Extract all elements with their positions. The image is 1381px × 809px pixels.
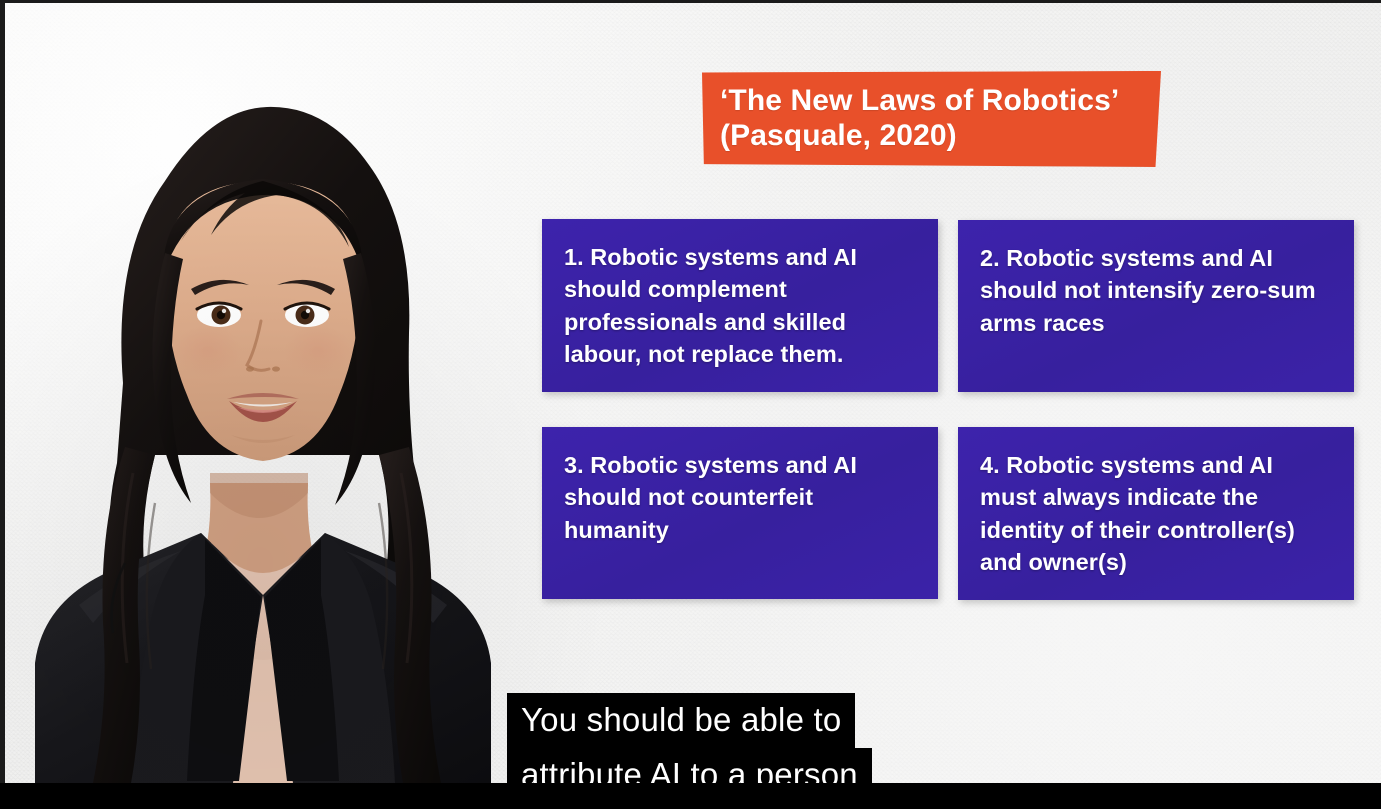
caption-line-2: attribute AI to a person bbox=[507, 748, 872, 783]
caption-line-1: You should be able to bbox=[507, 693, 855, 748]
law-box-1-text: 1. Robotic systems and AI should complem… bbox=[564, 241, 918, 371]
law-box-2-text: 2. Robotic systems and AI should not int… bbox=[980, 242, 1334, 339]
title-banner: ‘The New Laws of Robotics’ (Pasquale, 20… bbox=[702, 71, 1161, 167]
frame-edge-left bbox=[0, 0, 5, 783]
law-box-4: 4. Robotic systems and AI must always in… bbox=[958, 427, 1354, 600]
law-box-4-text: 4. Robotic systems and AI must always in… bbox=[980, 449, 1334, 579]
presenter-illustration bbox=[5, 3, 525, 783]
law-box-1: 1. Robotic systems and AI should complem… bbox=[542, 219, 938, 392]
title-line-1: ‘The New Laws of Robotics’ bbox=[720, 83, 1145, 118]
title-line-2: (Pasquale, 2020) bbox=[720, 118, 1145, 153]
video-frame: ‘The New Laws of Robotics’ (Pasquale, 20… bbox=[0, 0, 1381, 809]
law-box-3: 3. Robotic systems and AI should not cou… bbox=[542, 427, 938, 599]
slide-vignette bbox=[5, 3, 1381, 783]
presenter-video-figure bbox=[5, 3, 525, 783]
law-box-3-text: 3. Robotic systems and AI should not cou… bbox=[564, 449, 918, 546]
bottom-black-bar bbox=[0, 783, 1381, 809]
law-box-2: 2. Robotic systems and AI should not int… bbox=[958, 220, 1354, 392]
frame-edge-top bbox=[0, 0, 1381, 3]
caption-block: You should be able to attribute AI to a … bbox=[507, 693, 872, 783]
slide-surface: ‘The New Laws of Robotics’ (Pasquale, 20… bbox=[5, 3, 1381, 783]
